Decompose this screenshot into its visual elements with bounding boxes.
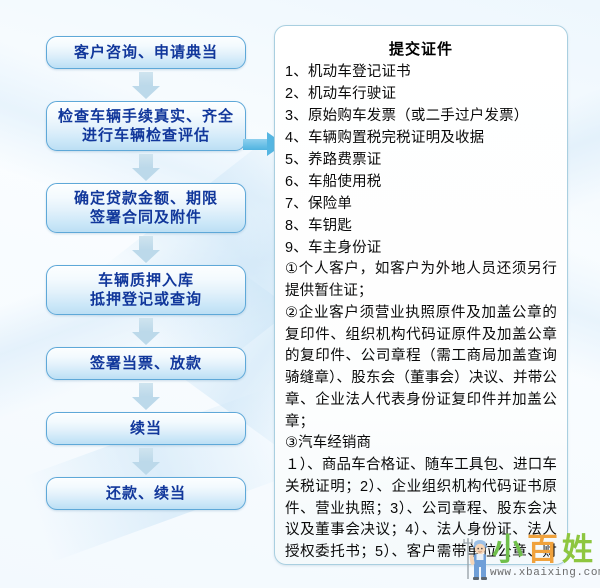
- flow-step-1[interactable]: 客户咨询、申请典当: [46, 36, 246, 69]
- flow-step-4-line-2: 抵押登记或查询: [90, 291, 202, 308]
- flow-step-6[interactable]: 续当: [46, 412, 246, 445]
- flow-step-1-line-1: 客户咨询、申请典当: [68, 43, 224, 62]
- down-arrow-6: [46, 445, 246, 477]
- arrow-head: [132, 332, 160, 345]
- document-note-dealer-heading: ③汽车经销商: [285, 433, 557, 455]
- arrow-head: [132, 397, 160, 410]
- arrow-head: [132, 462, 160, 475]
- down-arrow-2: [46, 151, 246, 183]
- process-flow-column: 客户咨询、申请典当 检查车辆手续真实、齐全 进行车辆检查评估 确定贷款金额、期限…: [46, 36, 246, 510]
- required-documents-panel: 提交证件 1、机动车登记证书 2、机动车行驶证 3、原始购车发票（或二手过户发票…: [274, 25, 568, 565]
- flow-step-2-line-2: 进行车辆检查评估: [82, 127, 210, 144]
- document-note-individual: ①个人客户，如客户为外地人员还须另行提供暂住证；: [285, 259, 557, 303]
- flow-step-7-line-1: 还款、续当: [100, 484, 192, 503]
- flow-step-6-line-1: 续当: [124, 419, 168, 438]
- flow-step-2[interactable]: 检查车辆手续真实、齐全 进行车辆检查评估: [46, 101, 246, 151]
- flow-step-2-line-1: 检查车辆手续真实、齐全: [58, 108, 234, 125]
- arrow-head: [132, 250, 160, 263]
- flow-step-4-text: 车辆质押入库 抵押登记或查询: [84, 271, 208, 309]
- flow-step-3-text: 确定贷款金额、期限 签署合同及附件: [68, 189, 224, 227]
- watermark-logo-text: 小百姓: [492, 533, 597, 567]
- site-watermark: 小百姓 www.xbaixing.com: [462, 533, 598, 585]
- flow-step-3-line-1: 确定贷款金额、期限: [74, 190, 218, 207]
- arrow-head: [132, 168, 160, 181]
- flow-step-3[interactable]: 确定贷款金额、期限 签署合同及附件: [46, 183, 246, 233]
- flow-step-3-line-2: 签署合同及附件: [90, 209, 202, 226]
- flow-step-2-text: 检查车辆手续真实、齐全 进行车辆检查评估: [52, 107, 240, 145]
- document-item-4: 4、车辆购置税完税证明及收据: [285, 127, 557, 149]
- watermark-char-2: 百: [527, 532, 562, 567]
- flow-step-4-line-1: 车辆质押入库: [98, 272, 194, 289]
- flow-step-4[interactable]: 车辆质押入库 抵押登记或查询: [46, 265, 246, 315]
- document-item-3: 3、原始购车发票（或二手过户发票）: [285, 105, 557, 127]
- farmer-mascot-icon: [462, 535, 492, 581]
- watermark-char-1: 小: [492, 532, 527, 567]
- document-item-2: 2、机动车行驶证: [285, 83, 557, 105]
- arrow-shaft: [243, 139, 269, 150]
- down-arrow-1: [46, 69, 246, 101]
- documents-panel-title: 提交证件: [285, 38, 557, 59]
- flow-step-7[interactable]: 还款、续当: [46, 477, 246, 510]
- document-item-5: 5、养路费票证: [285, 149, 557, 171]
- watermark-url: www.xbaixing.com: [490, 567, 600, 579]
- document-item-8: 8、车钥匙: [285, 215, 557, 237]
- down-arrow-4: [46, 315, 246, 347]
- document-item-6: 6、车船使用税: [285, 171, 557, 193]
- flow-step-5[interactable]: 签署当票、放款: [46, 347, 246, 380]
- watermark-char-3: 姓: [562, 532, 597, 567]
- down-arrow-5: [46, 380, 246, 412]
- flowchart-canvas: 客户咨询、申请典当 检查车辆手续真实、齐全 进行车辆检查评估 确定贷款金额、期限…: [0, 0, 600, 588]
- document-item-1: 1、机动车登记证书: [285, 61, 557, 83]
- document-item-7: 7、保险单: [285, 193, 557, 215]
- document-item-9: 9、车主身份证: [285, 237, 557, 259]
- document-note-enterprise: ②企业客户须营业执照原件及加盖公章的复印件、组织机构代码证原件及加盖公章的复印件…: [285, 303, 557, 434]
- flow-step-5-line-1: 签署当票、放款: [84, 354, 208, 373]
- arrow-head: [132, 86, 160, 99]
- down-arrow-3: [46, 233, 246, 265]
